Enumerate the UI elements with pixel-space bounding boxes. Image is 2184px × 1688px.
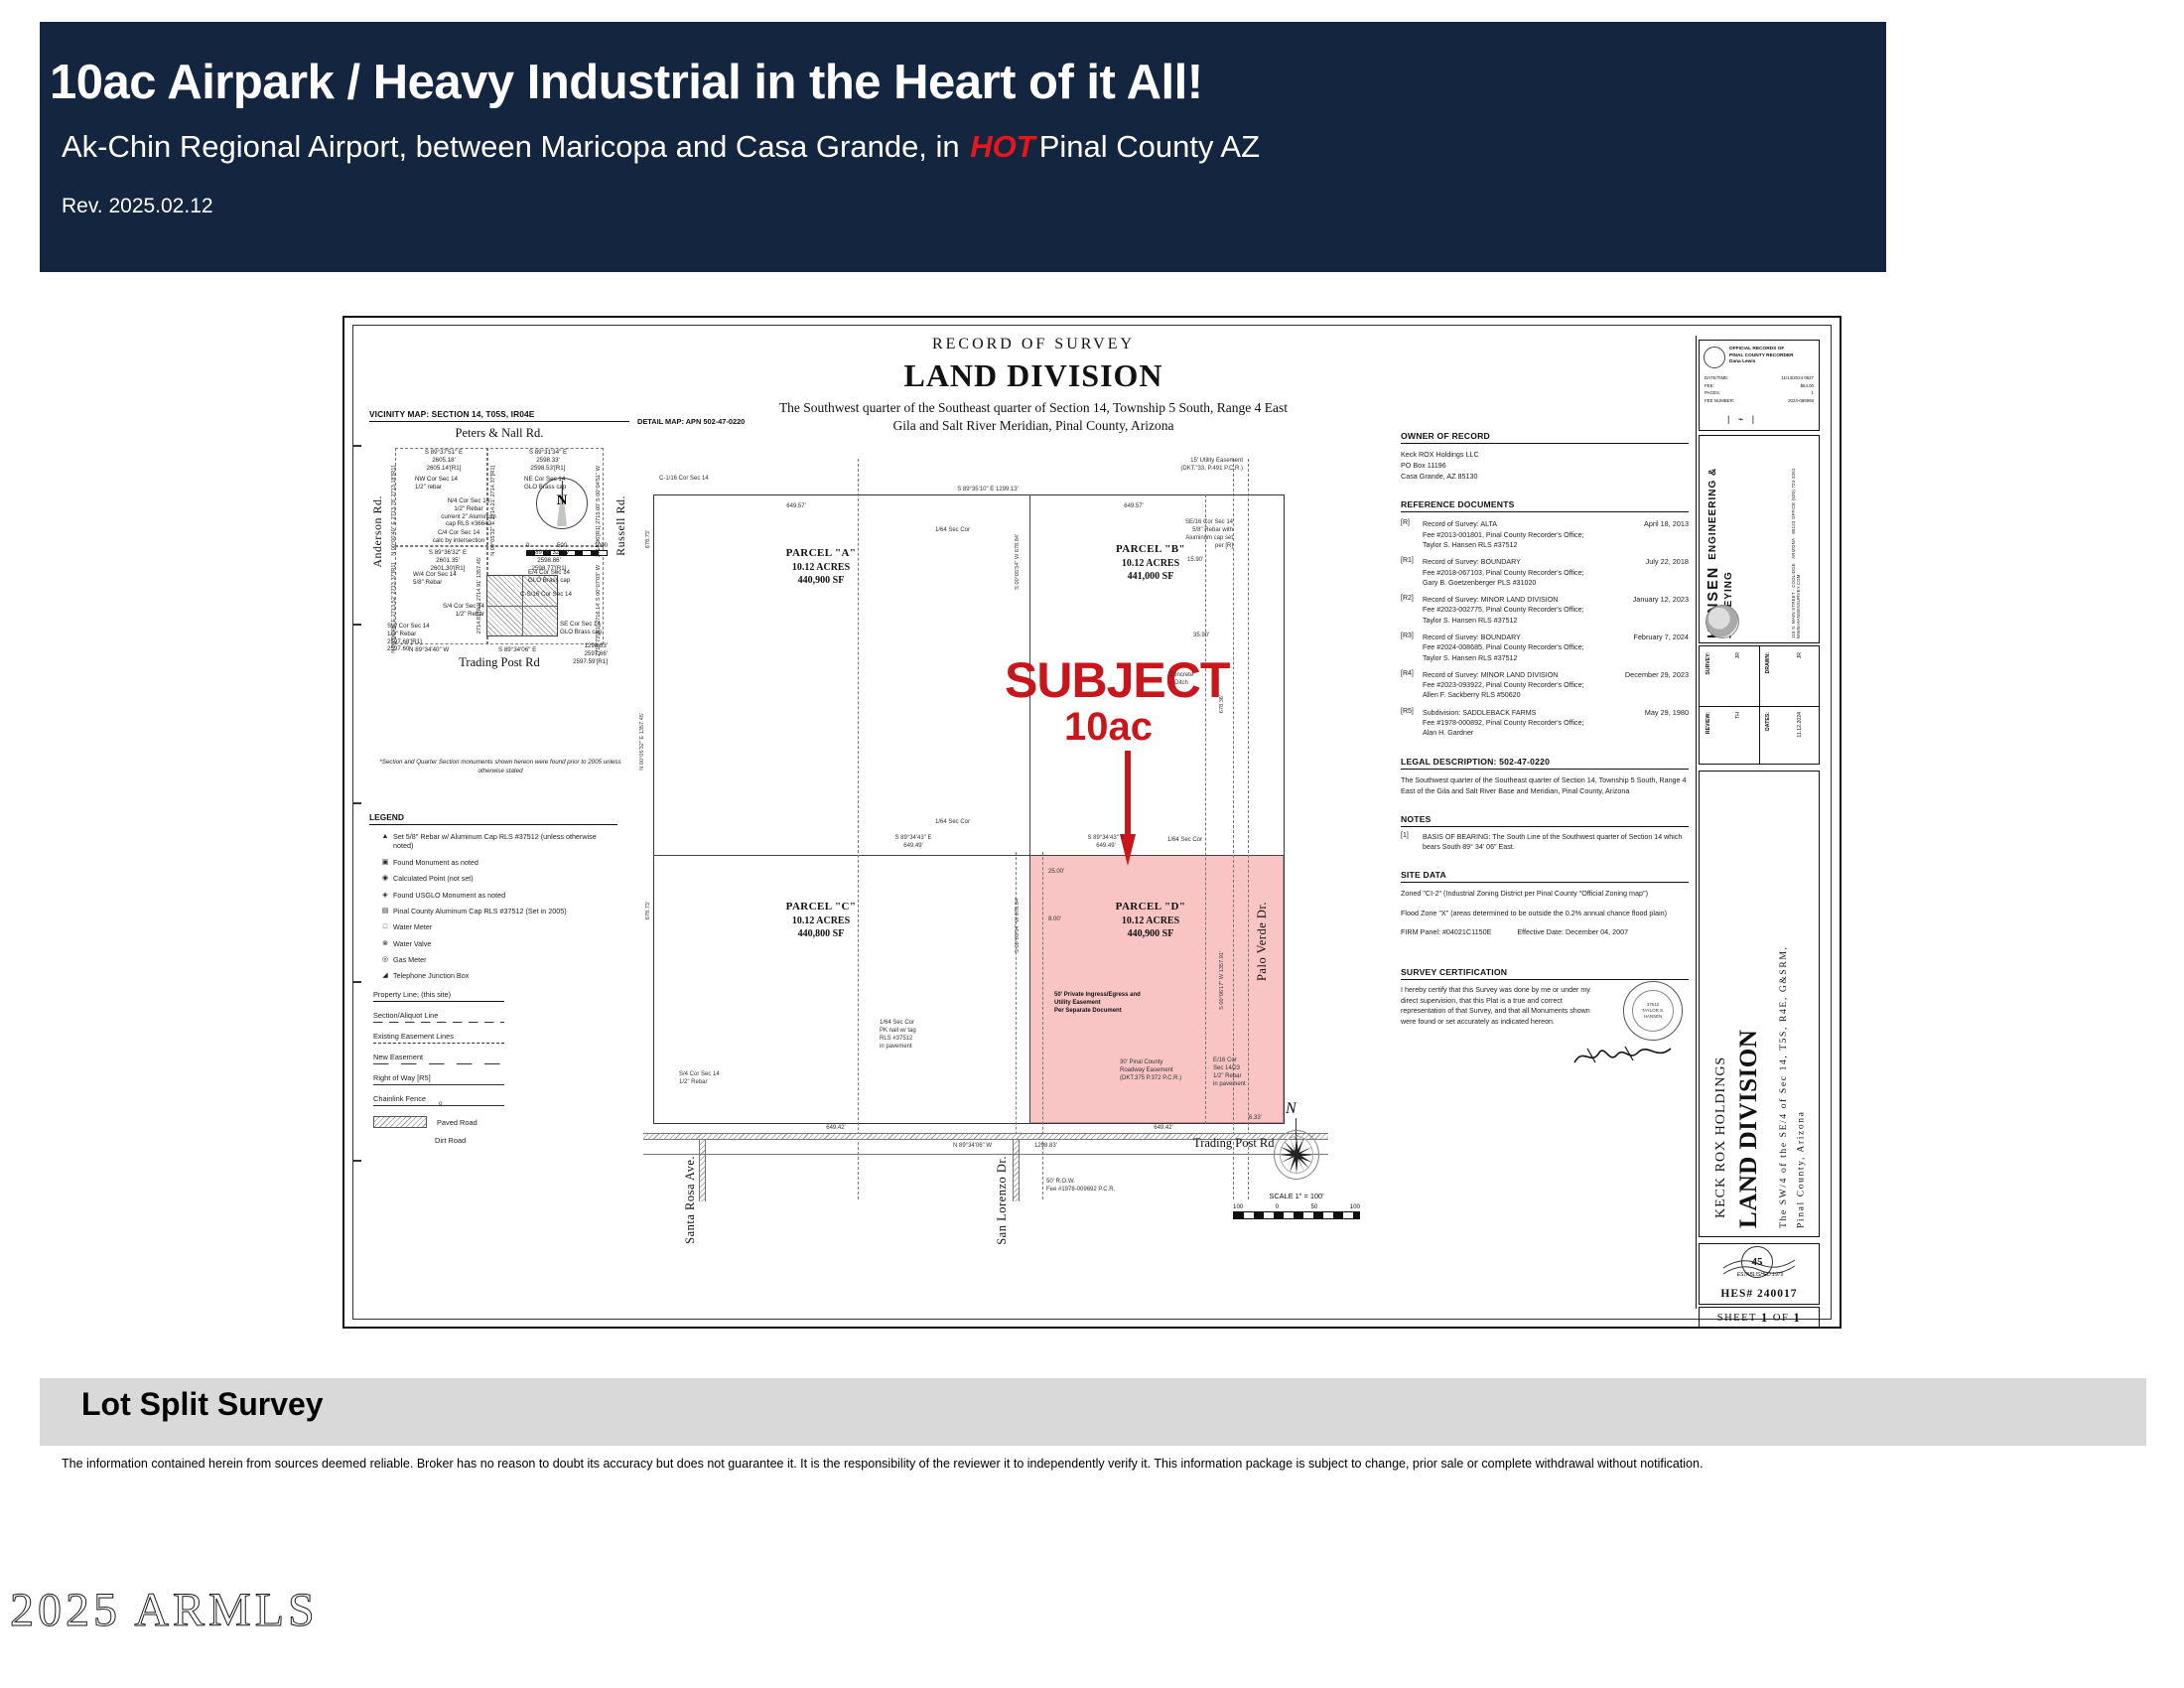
meta-grid: SURVEY: JR DRAWN: JR REVIEW: TH DATES: 1… [1699,645,1820,765]
parcel-b-sf: 441,000 SF [1086,570,1215,584]
seal-name-2: HANSEN [1644,1014,1662,1020]
road-label-santa-rosa: Santa Rosa Ave. [683,1156,698,1244]
annot-left-rot-2: N 00°05'32" E 1357.45' [639,713,645,771]
plat-scale-n1: 0 [1276,1203,1279,1210]
legend-paved-road-item: Paved Road [369,1116,617,1128]
annot-mid-bearing-left: S 89°34'43" E 649.49' [874,834,953,850]
legend-line-item: Chainlink Fence [369,1094,617,1106]
vicinity-map-panel: VICINITY MAP: SECTION 14, T05S, IR04E Pe… [369,409,629,684]
annot-bot-bearing: N 89°34'06" W [953,1142,992,1150]
armls-watermark: 2025 ARMLS [10,1583,319,1637]
disclaimer-text: The information contained herein from so… [62,1457,2126,1471]
annot-left-rot-3: 678.73' [645,902,651,919]
legend-item: □ Water Meter [369,922,617,931]
legend-line-item: Existing Easement Lines [369,1032,617,1044]
title-block-owner: KECK ROX HOLDINGS [1713,781,1729,1218]
firm-block: HANSEN ENGINEERING & SURVEYING 115 S. MA… [1699,435,1820,643]
meta-review-key: REVIEW: [1706,712,1711,734]
annot-left-rot-1: 678.73' [645,530,651,548]
compass-north-letter: N [1286,1100,1297,1118]
gas-meter-symbol-icon: ◎ [377,955,393,964]
legend-item: ◎ Gas Meter [369,955,617,964]
recorder-val-fee: $64.00 [1801,382,1814,390]
plat-scale-n0: 100 [1233,1203,1243,1210]
annot-dim-8: 8.00' [1048,915,1061,923]
reference-document-row: [R3] Record of Survey: BOUNDARYFee #2024… [1401,633,1689,663]
annot-mid-bearing-right: S 89°34'43" E 649.49' [1066,834,1146,850]
ref-title: Record of Survey: BOUNDARY [1423,557,1613,567]
vicinity-road-right: Russell Rd. [614,495,628,556]
legend-line-label: Section/Aliquot Line [373,1011,617,1020]
legend-heading: LEGEND [369,812,617,822]
owner-line-1: Keck ROX Holdings LLC [1401,449,1689,460]
annot-top-left-dist: 649.57' [766,502,826,510]
title-block: OFFICIAL RECORDS OF PINAL COUNTY RECORDE… [1696,336,1823,1309]
paved-road-label: Paved Road [437,1118,478,1127]
recorder-key-feenumber: FEE NUMBER: [1705,397,1754,405]
legend-item: ▲ Set 5/8" Rebar w/ Aluminum Cap RLS #37… [369,832,617,851]
owner-heading: OWNER OF RECORD [1401,431,1689,441]
vicinity-compass-n: N [537,492,587,509]
ref-title: Record of Survey: MINOR LAND DIVISION [1423,670,1613,680]
reference-document-row: [R2] Record of Survey: MINOR LAND DIVISI… [1401,595,1689,626]
owner-line-2: PO Box 11196 [1401,460,1689,471]
ref-detail: Fee #1978-000892, Pinal County Recorder'… [1423,718,1613,739]
parcel-d-label: PARCEL "D" 10.12 ACRES 440,900 SF [1086,900,1215,941]
survey-info-column: OWNER OF RECORD Keck ROX Holdings LLC PO… [1401,431,1689,1027]
legend-item-label: Found Monument as noted [393,858,478,867]
legend-item-label: Gas Meter [393,955,427,964]
ref-tag: [R3] [1401,633,1423,663]
legend-line-label: Property Line; (this site) [373,990,617,999]
telephone-junction-box-symbol-icon: ◢ [377,971,393,980]
land-division-title: LAND DIVISION [651,357,1416,394]
anniversary-badge-icon: 45 ESTABLISHED 1979 HES# 240017 [1699,1243,1820,1305]
record-of-survey-label: RECORD OF SURVEY [651,336,1416,353]
annot-sec-col-top: 1/64 Sec Cor [935,526,970,534]
recorder-seal-icon [1704,347,1725,368]
surveyor-signature-icon [1571,1043,1681,1068]
dirt-road-label: Dirt Road [369,1136,617,1145]
plat-division-vertical [1029,494,1030,1124]
vicinity-call-n4-cor: N/4 Cor Sec 14 1/2" Rebar current 2" Alu… [419,497,518,528]
section-line-swatch [373,1022,504,1023]
legend-line-label: New Easement [373,1053,617,1061]
legend-item-label: Pinal County Aluminum Cap RLS #37512 (Se… [393,907,567,915]
hot-badge: HOT [968,129,1038,164]
legend-item: ◈ Found USGLO Monument as noted [369,891,617,900]
annot-mid-rot-2: S 00°05'54" W 678.84' [1015,898,1021,953]
note-tag: [1] [1401,832,1423,853]
vicinity-call-s4-cor: S/4 Cor Sec 14 1/2" Rebar [413,603,484,619]
parcel-c-name: PARCEL "C" [756,900,886,914]
legend-item: ▣ Found Monument as noted [369,858,617,867]
annot-utility-easement: 15' Utility Easement (DKT."33, P.491 P.C… [1114,457,1243,473]
sheet-of: OF [1773,1313,1789,1324]
badge-established: ESTABLISHED 1979 [1706,1272,1815,1278]
survey-sheet: RECORD OF SURVEY LAND DIVISION The South… [342,316,1842,1329]
vicinity-rot-right-lower: 2716.73'[R1] 2716.14' S 00°07'03" W [596,565,603,656]
annot-sec-col-mid: 1/64 Sec Cor [935,818,970,826]
annot-sec-cor-right: 1/64 Sec Cor [1167,836,1202,844]
parcel-a-sf: 440,900 SF [756,574,886,588]
annot-se16-cor: SE/16 Cor Sec 14 5/8" Rebar with Aluminu… [1104,518,1233,550]
legend-item-label: Telephone Junction Box [393,971,469,980]
plat-scale-n2: 50 [1310,1203,1317,1210]
santa-rosa-ave-hatch [699,1140,706,1201]
vicinity-rule [369,421,629,422]
reference-document-row: [R5] Subdivision: SADDLEBACK FARMSFee #1… [1401,708,1689,739]
site-data-heading: SITE DATA [1401,870,1689,880]
meta-dates-val: 11.12.2024 [1797,712,1803,738]
parcel-c-label: PARCEL "C" 10.12 ACRES 440,800 SF [756,900,886,941]
vicinity-rot-mid-upper: N 00°05'32" E 2714.21' 2714.37'[R1] [490,466,497,556]
plat-outer-boundary [653,494,1285,1124]
vicinity-rot-left-upper: N 00°00'40" E 2713.78' 2713.18'[R1] [391,466,398,556]
owner-line-3: Casa Grande, AZ 85130 [1401,471,1689,482]
found-monument-symbol-icon: ▣ [377,858,393,867]
road-centerline [643,1154,1328,1155]
title-block-description: The SW/4 of the SE/4 of Sec 14, T5S, R4E… [1775,781,1810,1228]
vicinity-call-e4-cor: E/4 Cor Sec 14 GLO Brass cap [528,569,570,585]
revision-label: Rev. 2025.02.12 [62,195,213,218]
legend-item-label: Water Valve [393,939,431,948]
parcel-a-name: PARCEL "A" [756,546,886,561]
annot-right-rot-2: S 00°06'17" W 1357.91' [1219,951,1225,1010]
title-block-project: KECK ROX HOLDINGS LAND DIVISION The SW/4… [1699,771,1820,1237]
page-title: 10ac Airpark / Heavy Industrial in the H… [50,55,1203,110]
ref-title: Record of Survey: MINOR LAND DIVISION [1423,595,1613,605]
recorder-key-datetime: DATE/TIME: [1705,374,1754,382]
legend-line-label: Existing Easement Lines [373,1032,617,1041]
ref-detail: Fee #2024-008685, Pinal County Recorder'… [1423,642,1613,663]
firm-address: 115 S. MAIN STREET · COOLIDGE · ARIZONA … [1791,442,1801,638]
recorder-val-pages: 1 [1812,389,1814,397]
vicinity-rot-right-upper: 2714.96'[R1] 2715.00' S 00°04'51" W [596,466,603,557]
plat-dash-right-b [1248,459,1249,1199]
ref-title: Record of Survey: BOUNDARY [1423,633,1613,642]
legend-item: ▤ Pinal County Aluminum Cap RLS #37512 (… [369,907,617,915]
parcel-c-sf: 440,800 SF [756,927,886,941]
legend-rule [369,824,617,825]
ref-date: April 18, 2013 [1613,519,1689,550]
meta-review-val: TH [1735,712,1741,719]
ref-title: Subdivision: SADDLEBACK FARMS [1423,708,1613,718]
vicinity-road-left: Anderson Rd. [370,495,385,568]
annot-dim-35-90: 35.90' [1193,632,1209,639]
survey-sheet-inner-border: RECORD OF SURVEY LAND DIVISION The South… [352,325,1832,1320]
site-data-firm-panel: FIRM Panel: #04021C1150E [1401,926,1491,937]
legend-panel: LEGEND ▲ Set 5/8" Rebar w/ Aluminum Cap … [369,812,617,1145]
lot-split-bar [40,1378,2146,1446]
ref-detail: Fee #2018-067103, Pinal County Recorder'… [1423,568,1613,589]
ref-date: December 29, 2023 [1613,670,1689,701]
sheet-heading: RECORD OF SURVEY LAND DIVISION The South… [651,336,1416,434]
firm-logo-icon [1706,605,1739,638]
recorder-barcode-icon: | ⌁ | [1727,414,1757,425]
ref-tag: [R] [1401,519,1423,550]
reference-document-row: [R] Record of Survey: ALTAFee #2013-0018… [1401,519,1689,550]
annot-roadway-easement: 30' Pinal County Roadway Easement (DKT.3… [1120,1058,1181,1082]
annot-s4-cor: S/4 Cor Sec 14 1/2" Rebar [679,1070,720,1086]
right-of-way-swatch [373,1084,504,1085]
hes-number: HES# 240017 [1700,1288,1819,1300]
plat-drawing: Santa Rosa Ave. San Lorenzo Dr. Palo Ver… [637,435,1392,1279]
san-lorenzo-dr-hatch [1013,1140,1020,1201]
legend-line-label: Right of Way [R5] [373,1073,617,1082]
recorder-title: OFFICIAL RECORDS OF PINAL COUNTY RECORDE… [1729,347,1794,366]
annot-pk-nail: 1/64 Sec Cor PK nail w/ tag RLS #37512 i… [880,1019,916,1051]
subtitle-part-2: Pinal County AZ [1039,129,1260,164]
annot-bot-right-dist: 649.42' [1134,1124,1193,1132]
chainlink-fence-swatch [373,1105,504,1106]
annot-c116-cor: C-1/16 Cor Sec 14 [659,475,709,483]
ref-date: February 7, 2024 [1613,633,1689,663]
reference-documents-heading: REFERENCE DOCUMENTS [1401,499,1689,509]
new-easement-swatch [373,1063,504,1065]
subtitle-part-1: Ak-Chin Regional Airport, between Marico… [62,129,968,164]
vicinity-rot-mid-lower: 2714.81'[R1] 2714.91' 1357.45' [477,557,483,633]
vicinity-call-s-bearing-e: S 89°34'06" E [498,646,536,654]
annot-dim-15-90: 15.90' [1187,556,1203,564]
water-meter-symbol-icon: □ [377,922,393,931]
vicinity-call-cs16: C-S/16 Cor Sec 14 [520,591,572,599]
site-data-effective-date: Effective Date: December 04, 2007 [1517,926,1628,937]
legend-item: ◢ Telephone Junction Box [369,971,617,980]
legend-item: ◉ Calculated Point (not set) [369,874,617,883]
set-rebar-symbol-icon: ▲ [377,832,393,841]
meta-survey-key: SURVEY: [1706,652,1711,675]
sheet-number-row: SHEET 1 OF 1 [1699,1307,1820,1329]
annot-private-easement: 50' Private Ingress/Egress and Utility E… [1054,991,1141,1015]
ref-date: May 29, 1980 [1613,708,1689,739]
county-aluminum-cap-symbol-icon: ▤ [377,907,393,915]
annot-e16-cor: E/16 Cor Sec 14/23 1/2" Rebar in pavemen… [1213,1056,1246,1088]
legend-line-item: Right of Way [R5] [369,1073,617,1085]
annot-mid-rot-1: S 00°05'54" W 678.84' [1015,534,1021,590]
annot-top-bearing: S 89°35'10" E 1299.13' [903,486,1072,493]
note-row: [1] BASIS OF BEARING: The South Line of … [1401,832,1689,853]
notes-heading: NOTES [1401,814,1689,824]
vicinity-map-heading: VICINITY MAP: SECTION 14, T05S, IR04E [369,409,629,419]
ref-tag: [R2] [1401,595,1423,626]
sheet-prefix: SHEET [1717,1313,1757,1324]
vicinity-call-s-bearing-w: N 89°34'40" W [409,646,449,654]
parcel-a-label: PARCEL "A" 10.12 ACRES 440,900 SF [756,546,886,588]
legend-line-item: New Easement [369,1053,617,1065]
vicinity-call-ne-bearing: S 89°31'34" E 2598.33' 2598.53'[R1] [502,449,594,472]
road-label-san-lorenzo: San Lorenzo Dr. [995,1156,1010,1245]
reference-document-row: [R1] Record of Survey: BOUNDARYFee #2018… [1401,557,1689,588]
meta-dates-key: DATES: [1765,712,1771,731]
annot-top-right-dist: 649.57' [1104,502,1163,510]
note-text: BASIS OF BEARING: The South Line of the … [1423,832,1689,853]
legal-description-heading: LEGAL DESCRIPTION: 502-47-0220 [1401,757,1689,767]
meta-drawn-val: JR [1797,652,1803,658]
annot-right-rot-1: 678.36' [1219,695,1225,713]
legend-item-label: Found USGLO Monument as noted [393,891,505,900]
certification-heading: SURVEY CERTIFICATION [1401,967,1689,977]
vicinity-map-drawing: Peters & Nall Rd. Trading Post Rd Anders… [369,426,629,684]
ref-detail: Fee #2013-001801, Pinal County Recorder'… [1423,530,1613,551]
plat-scale-bar: SCALE 1" = 100' 100 0 50 100 [1233,1192,1360,1219]
ref-date: July 22, 2018 [1613,557,1689,588]
plat-compass-icon: N [1268,1102,1325,1180]
recorder-key-fee: FEE: [1705,382,1754,390]
title-block-title: LAND DIVISION [1735,781,1763,1228]
vicinity-call-w4-cor: W/4 Cor Sec 14 5/8" Rebar [413,571,457,587]
site-data-zoning: Zoned "CI-2" (Industrial Zoning District… [1401,888,1689,899]
paved-road-swatch [373,1116,427,1128]
sheet-number: 1 [1761,1311,1769,1326]
water-valve-symbol-icon: ⊗ [377,939,393,948]
usglo-monument-symbol-icon: ◈ [377,891,393,900]
legend-item-label: Set 5/8" Rebar w/ Aluminum Cap RLS #3751… [393,832,617,851]
recorder-stamp: OFFICIAL RECORDS OF PINAL COUNTY RECORDE… [1699,340,1820,431]
legend-line-label: Chainlink Fence [373,1094,617,1103]
legend-item: ⊗ Water Valve [369,939,617,948]
meta-survey-val: JR [1735,652,1741,658]
ref-date: January 12, 2023 [1613,595,1689,626]
ref-tag: [R5] [1401,708,1423,739]
legal-line-1: The Southwest quarter of the Southeast q… [651,400,1416,416]
ref-tag: [R1] [1401,557,1423,588]
page-subtitle: Ak-Chin Regional Airport, between Marico… [62,129,1260,165]
road-label-trading-post: Trading Post Rd [1193,1136,1275,1151]
recorder-val-feenumber: 2024-086968 [1788,397,1814,405]
parcel-d-name: PARCEL "D" [1086,900,1215,914]
vicinity-call-nw-cor: NW Cor Sec 14 1/2" rebar [415,476,458,492]
vicinity-road-top: Peters & Nall Rd. [369,426,629,441]
annot-dim-6-33: 6.33' [1249,1114,1262,1122]
annot-bot-mid-dist: 1298.83' [1034,1142,1057,1150]
annot-dim-25: 25.00' [1048,868,1064,876]
property-line-swatch [373,1001,504,1002]
reference-document-row: [R4] Record of Survey: MINOR LAND DIVISI… [1401,670,1689,701]
legend-item-label: Water Meter [393,922,432,931]
ref-detail: Fee #2023-002775, Pinal County Recorder'… [1423,605,1613,626]
vicinity-footnote: *Section and Quarter Section monuments s… [379,759,621,775]
lot-split-title: Lot Split Survey [81,1386,324,1423]
vicinity-call-ne-cor: NE Cor Sec 14 GLO Brass cap [524,476,566,492]
ref-detail: Fee #2023-093922, Pinal County Recorder'… [1423,680,1613,701]
ref-tag: [R4] [1401,670,1423,701]
plat-dash-utility-easement [1205,494,1206,1124]
legal-description-body: The Southwest quarter of the Southeast q… [1401,774,1689,796]
detail-map-label: DETAIL MAP: APN 502-47-0220 [637,417,745,426]
sheet-total: 1 [1793,1311,1801,1326]
legend-line-item: Property Line; (this site) [369,990,617,1002]
plat-scale-n3: 100 [1350,1203,1360,1210]
surveyor-seal-icon: 37512 TAYLOR S. HANSEN [1623,981,1683,1041]
vicinity-rot-left-lower: N 00°00'46" E 2713.52' 2713.37'[R1] [391,563,398,653]
ref-title: Record of Survey: ALTA [1423,519,1613,529]
legal-line-2: Gila and Salt River Meridian, Pinal Coun… [651,418,1416,434]
annot-concrete-ditch: Concrete Ditch [1154,671,1209,687]
parcel-d-acres: 10.12 ACRES [1086,914,1215,928]
road-label-palo-verde: Palo Verde Dr. [1255,902,1270,981]
legend-item-label: Calculated Point (not set) [393,874,474,883]
plat-division-horizontal [653,855,1285,856]
annot-row-50: 50' R.O.W. Fee #1978-009692 P.C.R. [1046,1178,1115,1194]
legend-line-item: Section/Aliquot Line [369,1011,617,1023]
site-data-flood: Flood Zone "X" (areas determined to be o… [1401,908,1689,918]
vicinity-call-nw-bearing: S 89°37'51" E 2605.18' 2605.14'[R1] [399,449,488,472]
certification-body: I hereby certify that this Survey was do… [1401,985,1595,1028]
parcel-d-sf: 440,900 SF [1086,927,1215,941]
recorder-key-pages: PAGES: [1705,389,1754,397]
plat-scale-label: SCALE 1" = 100' [1233,1192,1360,1200]
existing-easement-swatch [373,1043,504,1044]
parcel-c-acres: 10.12 ACRES [756,914,886,928]
recorder-val-datetime: 11/13/2024 0927 [1781,374,1814,382]
subject-acreage-text: 10ac [1064,705,1153,750]
parcel-a-acres: 10.12 ACRES [756,561,886,575]
annot-bot-left-dist: 649.42' [806,1124,866,1132]
calculated-point-symbol-icon: ◉ [377,874,393,883]
meta-drawn-key: DRAWN: [1765,652,1771,673]
